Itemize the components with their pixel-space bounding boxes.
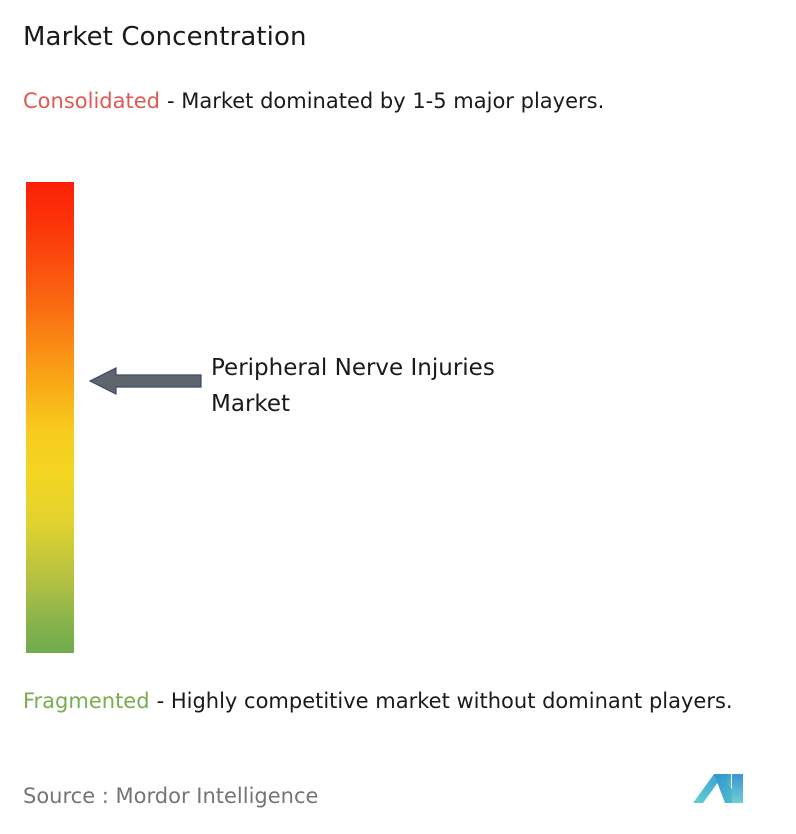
fragmented-keyword: Fragmented: [23, 689, 150, 713]
market-concentration-chart: Market Concentration Consolidated- Marke…: [0, 0, 796, 834]
fragmented-description: Fragmented- Highly competitive market wi…: [23, 685, 783, 717]
consolidated-description: Consolidated- Market dominated by 1-5 ma…: [23, 85, 768, 117]
mordor-intelligence-logo-icon: [691, 772, 755, 806]
consolidated-description-text: - Market dominated by 1-5 major players.: [167, 89, 604, 113]
page-title: Market Concentration: [23, 20, 307, 54]
market-position-arrow: [89, 366, 202, 396]
concentration-gradient-bar: [26, 182, 74, 653]
market-label-line-2: Market: [211, 386, 641, 422]
market-label: Peripheral Nerve Injuries Market: [211, 350, 641, 422]
source-label: Source : Mordor Intelligence: [23, 781, 318, 811]
consolidated-keyword: Consolidated: [23, 89, 160, 113]
fragmented-description-text: - Highly competitive market without domi…: [157, 689, 733, 713]
market-label-line-1: Peripheral Nerve Injuries: [211, 350, 641, 386]
